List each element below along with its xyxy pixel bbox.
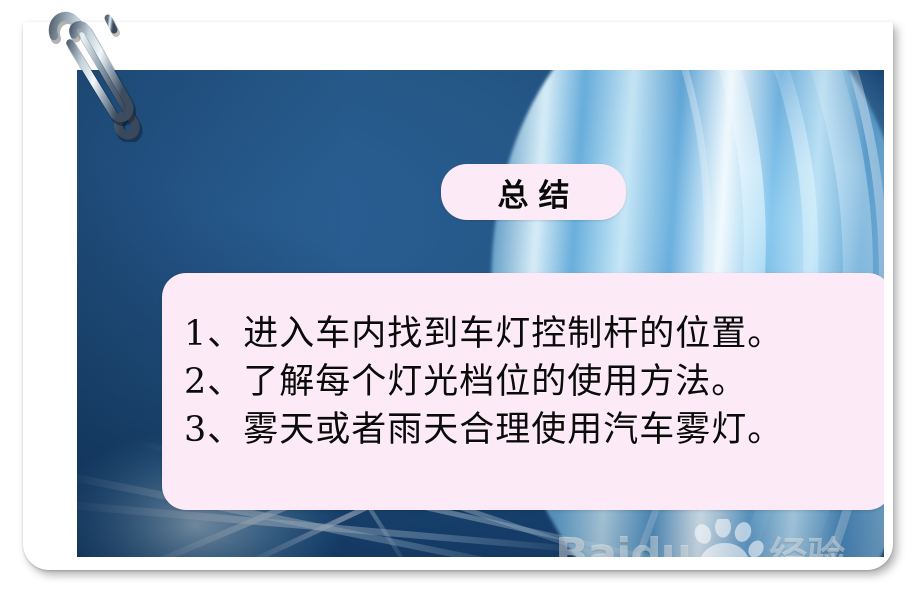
- screenshot-root: 总结 1、进入车内找到车灯控制杆的位置。 2、了解每个灯光档位的使用方法。 3、…: [0, 0, 917, 600]
- slide-image: 总结 1、进入车内找到车灯控制杆的位置。 2、了解每个灯光档位的使用方法。 3、…: [77, 70, 884, 557]
- slide-title-box: 总结: [441, 164, 626, 220]
- body-line-3: 3、雾天或者雨天合理使用汽车雾灯。: [184, 406, 870, 454]
- page-title: 总结: [488, 170, 580, 215]
- body-line-2: 2、了解每个灯光档位的使用方法。: [184, 358, 870, 406]
- slide-body-box: 1、进入车内找到车灯控制杆的位置。 2、了解每个灯光档位的使用方法。 3、雾天或…: [162, 273, 884, 510]
- body-line-1: 1、进入车内找到车灯控制杆的位置。: [184, 310, 870, 358]
- photo-card: 总结 1、进入车内找到车灯控制杆的位置。 2、了解每个灯光档位的使用方法。 3、…: [23, 22, 893, 570]
